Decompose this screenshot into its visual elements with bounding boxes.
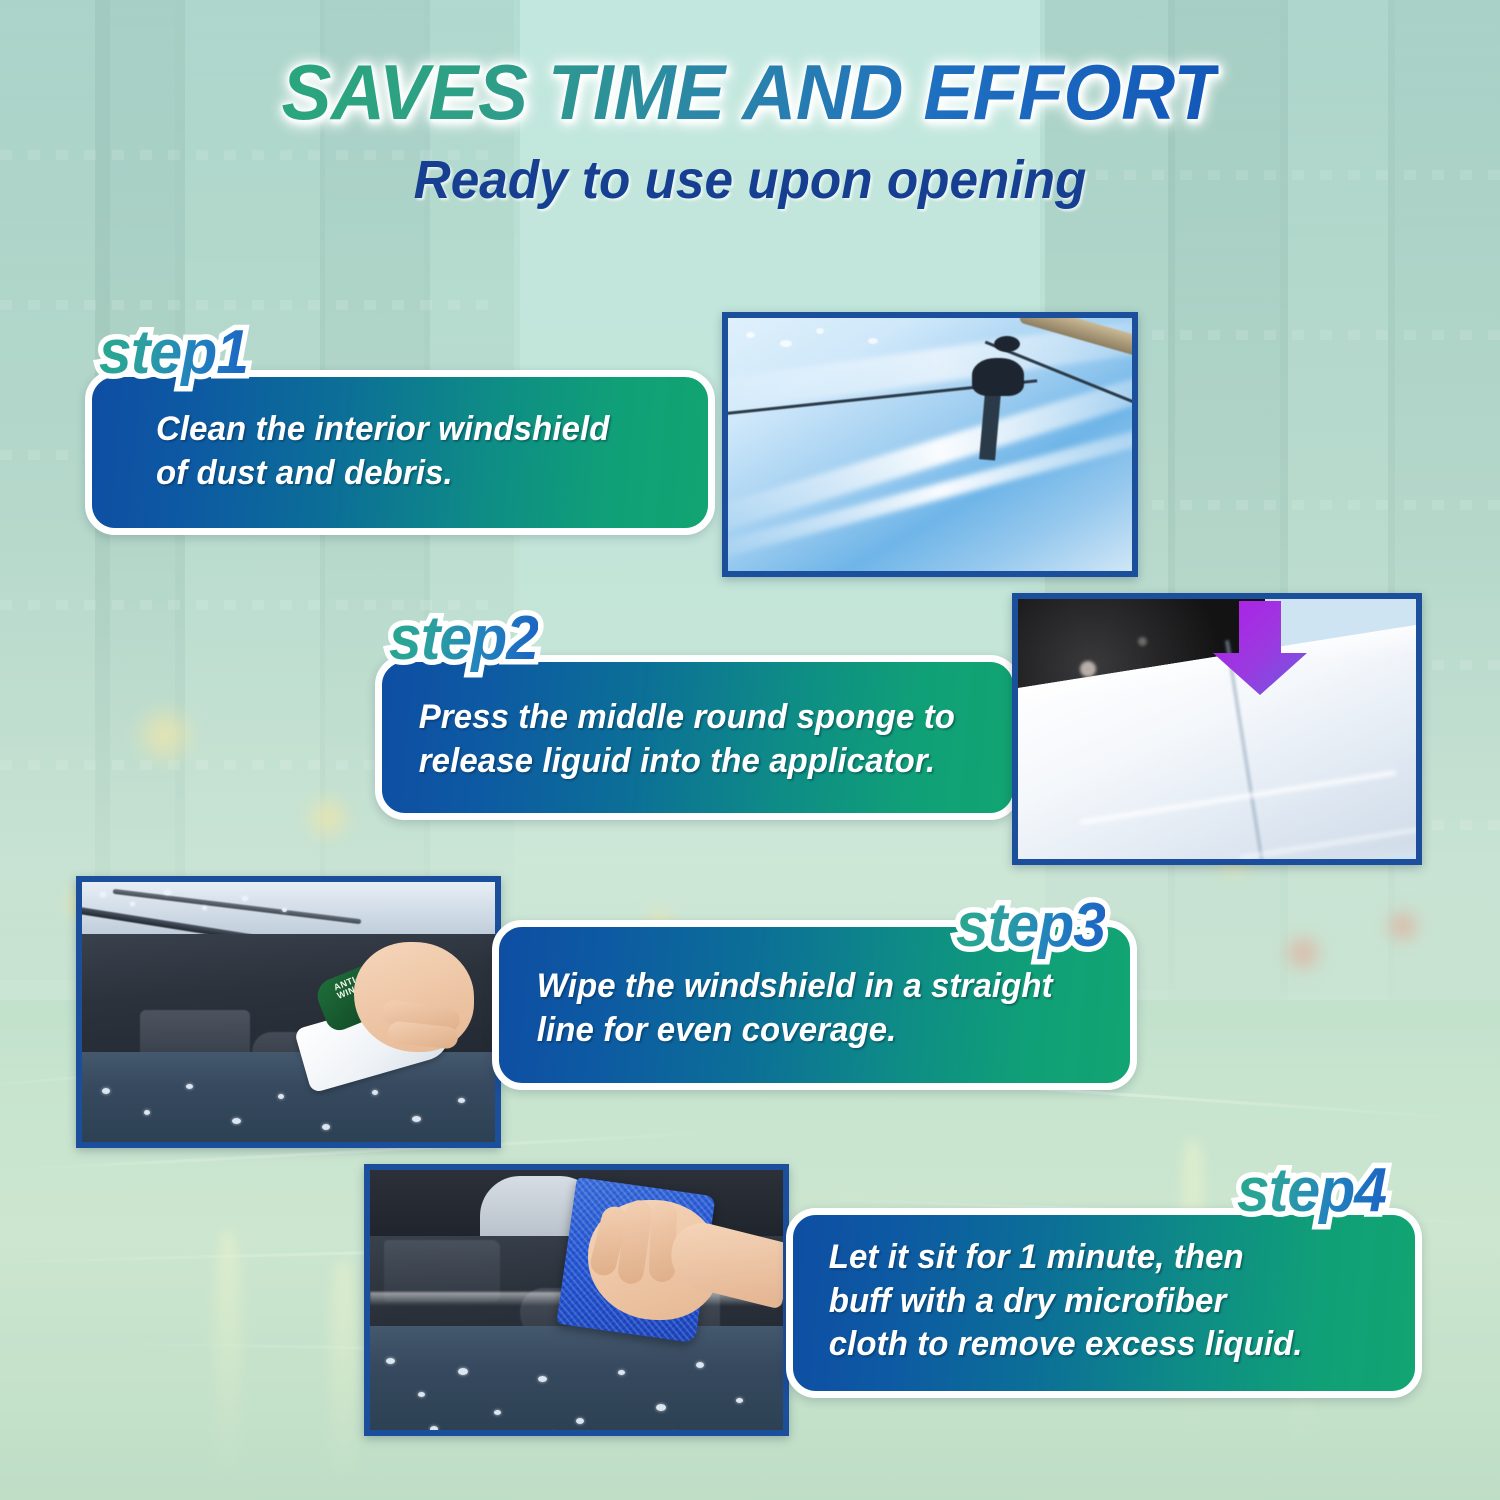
hood-water-beads xyxy=(82,1074,495,1142)
background-bokeh xyxy=(1138,637,1147,646)
step-label-1: step1 step1 xyxy=(99,322,248,384)
step-label-2: step2 step2 xyxy=(389,608,538,670)
step-text-4: Let it sit for 1 minute, then buff with … xyxy=(829,1236,1392,1367)
step-text-3: Wipe the windshield in a straight line f… xyxy=(537,965,1104,1052)
step-label-2-fill: step2 xyxy=(389,604,538,673)
step-text-3-line2: line for even coverage. xyxy=(537,1009,1104,1053)
step-label-4: step4 step4 xyxy=(1237,1160,1386,1222)
rearview-mirror-mount xyxy=(972,358,1024,396)
step-text-2-line2: release liguid into the applicator. xyxy=(419,740,982,784)
step-text-4-line2: buff with a dry microfiber xyxy=(829,1280,1392,1324)
step-text-3-line1: Wipe the windshield in a straight xyxy=(537,965,1104,1009)
step-text-4-line1: Let it sit for 1 minute, then xyxy=(829,1236,1392,1280)
press-down-arrow-icon xyxy=(1203,601,1313,697)
step-photo-2 xyxy=(1012,593,1422,865)
step-photo-3: ANTI-FOG WINDSHIELD xyxy=(76,876,501,1148)
step-label-3: step3 step3 xyxy=(956,895,1105,957)
page-title: SAVES TIME AND EFFORT xyxy=(281,52,1218,134)
rearview-mirror-base xyxy=(994,336,1020,352)
background-bokeh xyxy=(1080,661,1096,677)
water-droplet xyxy=(868,338,878,344)
header: SAVES TIME AND EFFORT SAVES TIME AND EFF… xyxy=(0,52,1500,209)
windshield-water-beads xyxy=(92,886,342,932)
step-label-3-fill: step3 xyxy=(956,891,1105,960)
step-text-1-line2: of dust and debris. xyxy=(156,452,670,496)
step-text-1-line1: Clean the interior windshield xyxy=(156,408,670,452)
step-label-4-fill: step4 xyxy=(1237,1156,1386,1225)
water-droplet xyxy=(816,328,824,334)
infographic-poster: SAVES TIME AND EFFORT SAVES TIME AND EFF… xyxy=(0,0,1500,1500)
step-text-2: Press the middle round sponge to release… xyxy=(419,696,982,783)
step-label-1-fill: step1 xyxy=(99,318,248,387)
step-text-2-line1: Press the middle round sponge to xyxy=(419,696,982,740)
water-droplet xyxy=(746,332,755,338)
water-droplet xyxy=(780,340,792,347)
step-text-1: Clean the interior windshield of dust an… xyxy=(156,408,670,495)
step-photo-4 xyxy=(364,1164,789,1436)
step-photo-1 xyxy=(722,312,1138,577)
step-text-4-line3: cloth to remove excess liquid. xyxy=(829,1323,1392,1367)
page-subtitle: Ready to use upon opening xyxy=(38,152,1463,209)
hood-water-beads xyxy=(370,1340,783,1430)
